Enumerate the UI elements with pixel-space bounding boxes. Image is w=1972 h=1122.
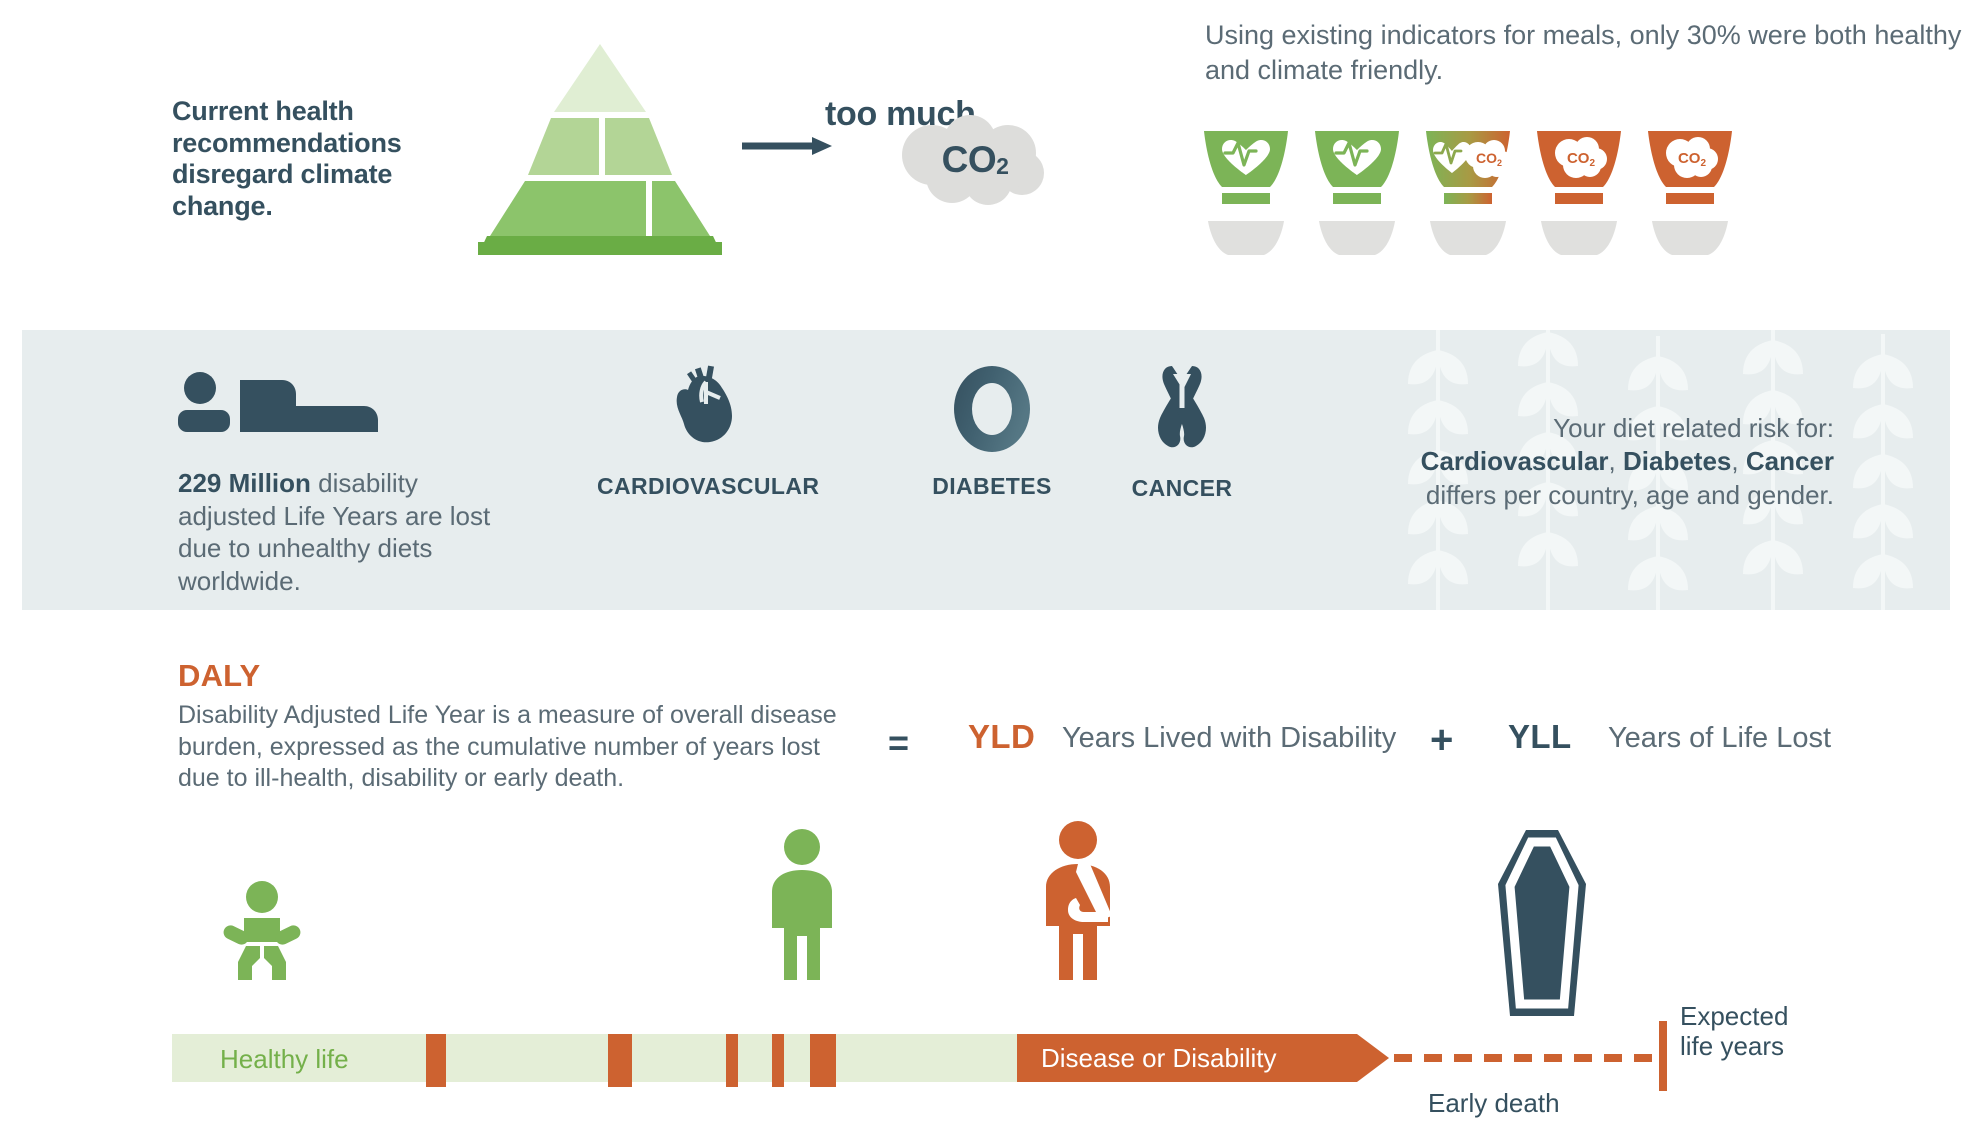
bowl-healthy-2 [1311, 125, 1403, 260]
daly-heading: DALY [178, 658, 260, 694]
early-death-label: Early death [1428, 1088, 1560, 1119]
coffin-icon [1494, 828, 1590, 1018]
expected-life-marker [1659, 1021, 1667, 1091]
risk-cardio: Cardiovascular [1421, 446, 1609, 476]
right-arrow-icon [742, 135, 832, 157]
disease-label-cancer: CANCER [1097, 475, 1267, 502]
food-pyramid-icon [450, 40, 750, 255]
meal-indicator-note: Using existing indicators for meals, onl… [1205, 18, 1972, 87]
disease-label-diabetes: DIABETES [902, 473, 1082, 500]
plus-sign: + [1430, 718, 1453, 763]
risk-cancer: Cancer [1746, 446, 1834, 476]
bowl-co2-5: CO2 [1644, 125, 1736, 260]
diabetes-ring-icon [949, 364, 1035, 454]
injured-person-figure-icon [1032, 820, 1120, 986]
co2-text: CO2 [890, 115, 1060, 205]
healthy-life-label: Healthy life [220, 1044, 349, 1075]
disease-label-cardiovascular: CARDIOVASCULAR [597, 473, 817, 500]
risk-line-3: differs per country, age and gender. [1426, 480, 1834, 510]
timeline-tick-5 [810, 1034, 836, 1087]
daly-stat-text: 229 Million disability adjusted Life Yea… [178, 467, 508, 597]
timeline-tick-3 [726, 1034, 738, 1087]
expected-life-years-label: Expected life years [1680, 1002, 1810, 1062]
yll-abbreviation: YLL [1508, 718, 1572, 756]
disease-burden-band: 229 Million disability adjusted Life Yea… [22, 330, 1950, 610]
daly-stat-block: 229 Million disability adjusted Life Yea… [178, 372, 508, 597]
yld-full-label: Years Lived with Disability [1062, 722, 1396, 755]
risk-diabetes: Diabetes [1623, 446, 1731, 476]
timeline-tick-1 [426, 1034, 446, 1087]
awareness-ribbon-icon [1142, 364, 1222, 456]
disease-disability-bar: Disease or Disability [1017, 1034, 1357, 1082]
early-death-dotted-line [1394, 1054, 1656, 1062]
daly-stat-value: 229 Million [178, 468, 311, 498]
daly-description: Disability Adjusted Life Year is a measu… [178, 700, 838, 795]
yll-full-label: Years of Life Lost [1608, 722, 1831, 755]
timeline-tick-2 [608, 1034, 632, 1087]
heart-organ-icon [662, 364, 752, 454]
disease-disability-label: Disease or Disability [1041, 1043, 1277, 1074]
co2-label: CO [942, 139, 997, 181]
person-in-bed-icon [178, 372, 378, 434]
timeline-tick-4 [772, 1034, 784, 1087]
equals-sign: = [888, 722, 909, 764]
risk-sep-2: , [1731, 446, 1745, 476]
risk-note: Your diet related risk for: Cardiovascul… [1364, 412, 1834, 512]
timeline-arrowhead-icon [1357, 1034, 1389, 1082]
disease-diabetes: DIABETES [902, 364, 1082, 500]
co2-cloud-icon: CO2 [890, 115, 1060, 205]
adult-figure-icon [762, 828, 842, 986]
co2-subscript: 2 [996, 153, 1008, 180]
risk-sep-1: , [1609, 446, 1623, 476]
disease-cancer: CANCER [1097, 364, 1267, 502]
headline-text: Current health recommendations disregard… [172, 96, 462, 222]
infographic-page: Current health recommendations disregard… [0, 0, 1972, 1122]
risk-line-1: Your diet related risk for: [1553, 413, 1834, 443]
bowl-co2-4: CO2 [1533, 125, 1625, 260]
baby-figure-icon [222, 880, 302, 985]
yld-abbreviation: YLD [968, 718, 1035, 756]
disease-cardiovascular: CARDIOVASCULAR [597, 364, 817, 500]
daly-timeline: Healthy life Disease or Disability Early… [172, 1034, 1972, 1094]
bowls-row: CO2 CO2 [1200, 125, 1840, 255]
bowl-healthy-1 [1200, 125, 1292, 260]
bowl-mixed-3: CO2 [1422, 125, 1514, 260]
